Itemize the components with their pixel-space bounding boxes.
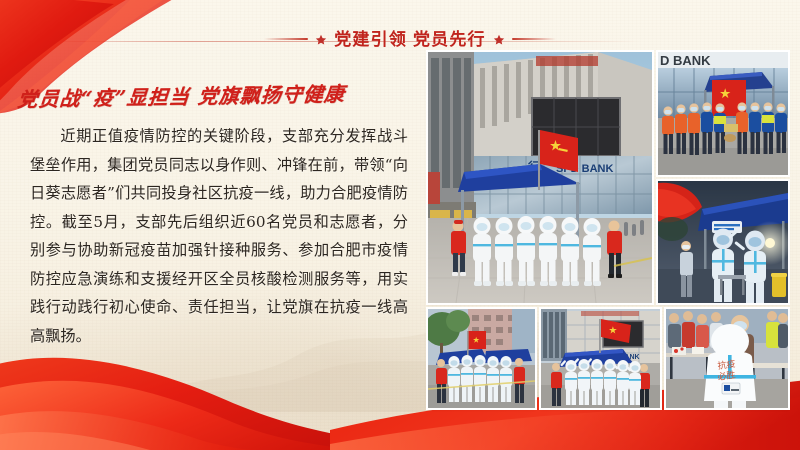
star-left-icon — [315, 33, 327, 45]
photo-flag-group[interactable]: D BANK — [658, 52, 788, 175]
star-right-icon — [493, 33, 505, 45]
body-paragraph: 近期正值疫情防控的关键阶段，支部充分发挥战斗堡垒作用，集团党员同志以身作则、冲锋… — [30, 122, 408, 350]
header-rule-left — [264, 38, 308, 40]
photo-ppe-back-view[interactable]: 抗疫 必胜 — [666, 309, 788, 408]
svg-text:D BANK: D BANK — [660, 53, 711, 68]
header-title: 党建引领 党员先行 — [334, 31, 486, 48]
headline-calligraphy: 党员战“疫”显担当 党旗飘扬守健康 — [16, 77, 419, 113]
photo-main-bank-group[interactable]: SPD BANK 行 — [428, 52, 652, 303]
photo-collage: SPD BANK 行 — [428, 52, 788, 408]
poster-canvas: 党建引领 党员先行 党员战“疫”显担当 党旗飘扬守健康 近期正值疫情防控的关键阶… — [0, 0, 800, 450]
photo-plaza-group[interactable]: SPD BANK — [541, 309, 660, 408]
photo-community-site[interactable] — [428, 309, 535, 408]
header-rule-right — [512, 38, 556, 40]
header-banner: 党建引领 党员先行 — [250, 26, 570, 52]
photo-night-testing-site[interactable] — [658, 181, 788, 303]
